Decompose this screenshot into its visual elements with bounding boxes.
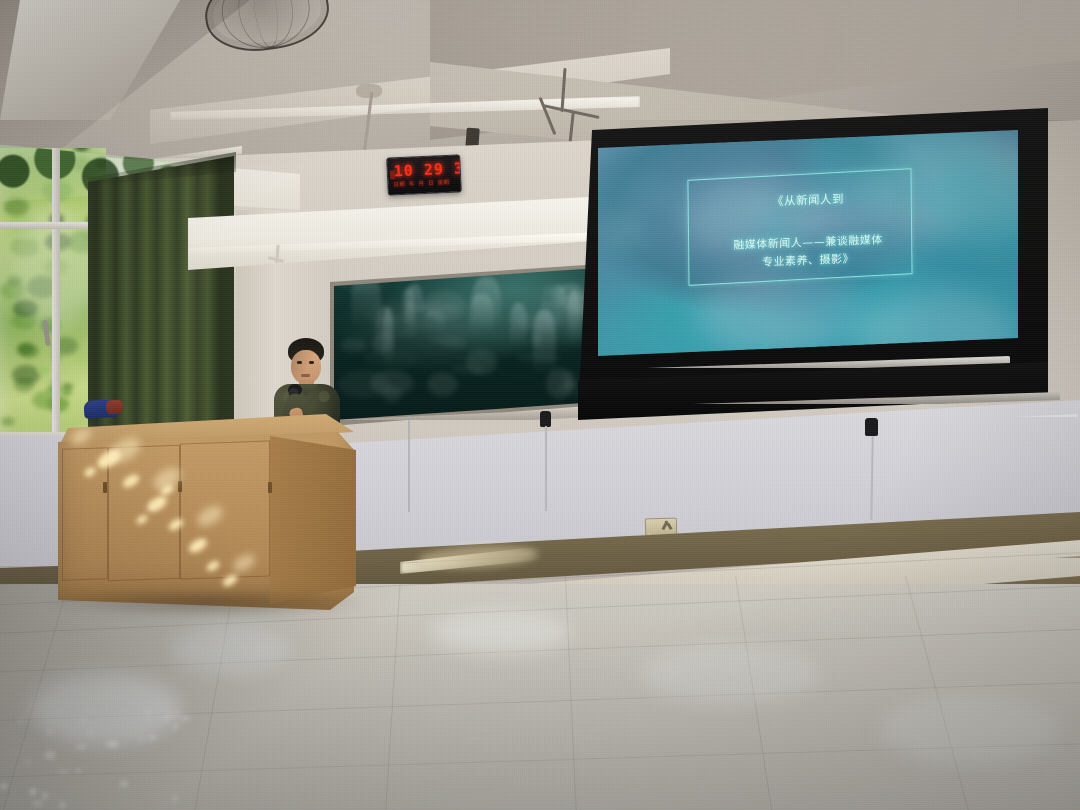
presenter-eye bbox=[309, 361, 314, 364]
projection-screen bbox=[598, 130, 1018, 356]
clock-sub-label: 日期 年 月 日 星期 bbox=[393, 177, 459, 188]
presenter-mouth bbox=[301, 374, 310, 377]
wall-cable bbox=[545, 426, 547, 511]
presenter-face-shadow bbox=[291, 350, 321, 384]
wall-mount-device-icon bbox=[540, 411, 551, 427]
lectern-door[interactable] bbox=[108, 445, 180, 582]
led-wall-clock: 10 29 32 日期 年 月 日 星期 bbox=[386, 154, 462, 195]
lectern-side-panel bbox=[270, 436, 356, 606]
window-mullion bbox=[52, 148, 60, 448]
lectern-handle[interactable] bbox=[178, 481, 182, 492]
lectern-floor-shadow bbox=[46, 592, 366, 618]
wall-mount-device-icon bbox=[865, 418, 878, 436]
lectern-handle[interactable] bbox=[103, 482, 107, 493]
slide-frame bbox=[687, 168, 912, 286]
presenter-eye bbox=[297, 361, 302, 364]
lectern-door[interactable] bbox=[180, 440, 270, 579]
presenter bbox=[268, 338, 346, 428]
lectern-handle[interactable] bbox=[268, 482, 272, 493]
classroom-photo: 10 29 32 日期 年 月 日 星期 《从新闻人到 融媒体新闻人——兼谈融媒… bbox=[0, 0, 1080, 810]
wall-panel-join bbox=[408, 416, 410, 512]
red-item bbox=[106, 399, 124, 414]
